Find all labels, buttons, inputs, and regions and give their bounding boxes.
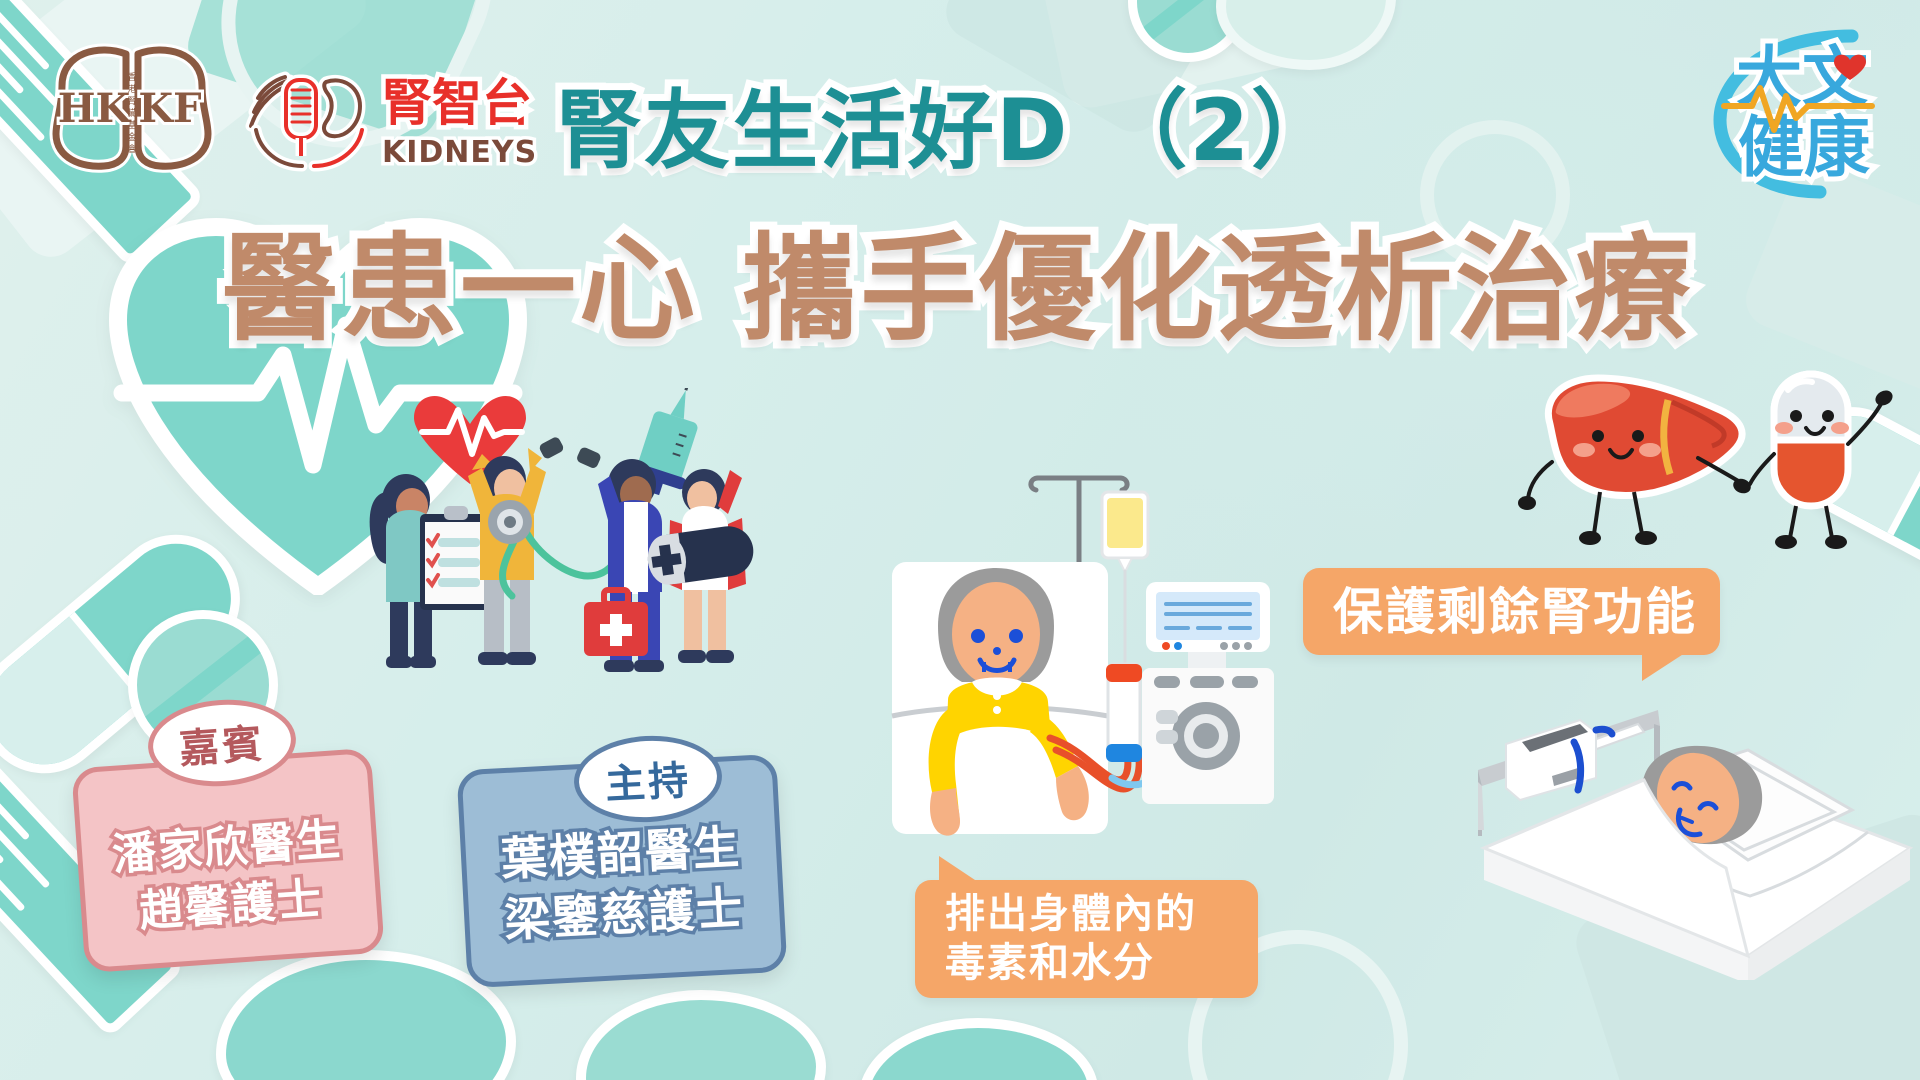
dawen-health-logo: 大文 健康 (1702, 22, 1907, 202)
guest-names: 潘家欣醫生 趙馨護士 (80, 809, 377, 945)
speech-bubble-toxin: 排出身體內的 毒素和水分 (915, 880, 1258, 998)
liver-and-pill-characters-illustration (1512, 358, 1912, 558)
svg-text:香: 香 (127, 72, 136, 83)
kidneys-talk-english: KIDNEYS TALK (382, 135, 540, 170)
dialysis-machine-body (1142, 668, 1274, 804)
series-title: 腎友生活好D （2） (556, 88, 1339, 176)
liver-character (1518, 378, 1753, 545)
hkkf-acronym-left: HK (58, 85, 132, 132)
svg-text:金: 金 (127, 131, 136, 143)
svg-text:腎: 腎 (127, 96, 136, 107)
dialyzer-icon (1106, 664, 1142, 762)
kidneys-talk-logo: 腎智台 KIDNEYS TALK (240, 58, 540, 176)
blob-shape (1216, 0, 1396, 70)
patient-in-bed-illustration (1448, 690, 1918, 980)
blob-shape (858, 1018, 1098, 1080)
hemodialysis-illustration (880, 448, 1280, 848)
iv-bag-icon (1102, 492, 1148, 666)
speech-bubble-protect: 保護剩餘腎功能 (1303, 568, 1720, 655)
hkkf-logo: HK KF 香 港 腎 臟 基 金 會 (48, 42, 216, 174)
speech-bubble-protect-text: 保護剩餘腎功能 (1333, 587, 1697, 637)
blob-shape (576, 990, 826, 1080)
host-names: 葉樸韶醫生 梁鑒慈護士 (465, 815, 781, 952)
svg-text:基: 基 (127, 119, 136, 131)
page-title: 醫患一心 攜手優化透析治療 (222, 232, 1693, 348)
peritoneal-dialysis-machine (1506, 720, 1612, 800)
speech-bubble-toxin-line1: 排出身體內的 (945, 890, 1197, 939)
svg-text:臟: 臟 (127, 107, 136, 119)
speech-bubble-toxin-text: 排出身體內的 毒素和水分 (945, 890, 1197, 988)
kidneys-talk-chinese: 腎智台 (382, 74, 532, 132)
microphone-kidney-hands-icon (251, 77, 362, 166)
round-pill-shape (1128, 0, 1248, 62)
dialysis-monitor (1146, 582, 1270, 670)
speech-bubble-toxin-line2: 毒素和水分 (945, 939, 1197, 988)
svg-text:港: 港 (127, 83, 136, 95)
hkkf-acronym-right: KF (138, 85, 201, 132)
medical-team-illustration (352, 388, 772, 708)
svg-text:會: 會 (127, 143, 136, 155)
poster-canvas: HK KF 香 港 腎 臟 基 金 會 (0, 0, 1920, 1080)
dawen-line2: 健康 (1738, 109, 1870, 186)
capsule-character (1750, 374, 1895, 549)
